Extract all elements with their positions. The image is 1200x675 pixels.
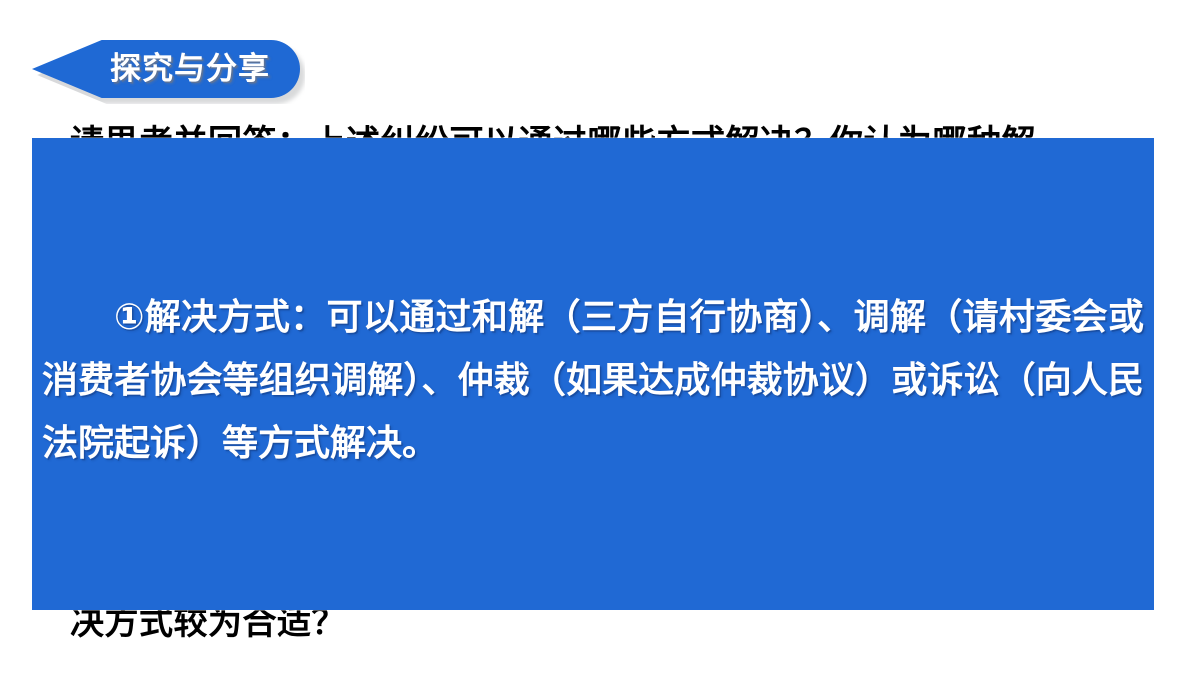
- answer-text-block: ①解决方式：可以通过和解（三方自行协商）、调解（请村委会或消费者协会等组织调解）…: [42, 160, 1144, 610]
- answer-paragraph-2: ②合适的解决方式（示例）：首先尝试调解。因为本案事实比较清楚（播种机有缺陷），涉…: [42, 601, 1144, 610]
- section-banner: 探究与分享: [32, 40, 300, 98]
- section-banner-label: 探究与分享: [110, 54, 270, 85]
- answer-panel: ①解决方式：可以通过和解（三方自行协商）、调解（请村委会或消费者协会等组织调解）…: [32, 138, 1154, 610]
- answer-paragraph-1: ①解决方式：可以通过和解（三方自行协商）、调解（请村委会或消费者协会等组织调解）…: [42, 286, 1144, 475]
- slide-canvas: 探究与分享 请思考并回答：上述纠纷可以通过哪些方式解决？你认为哪种解 决方式较为…: [0, 0, 1200, 675]
